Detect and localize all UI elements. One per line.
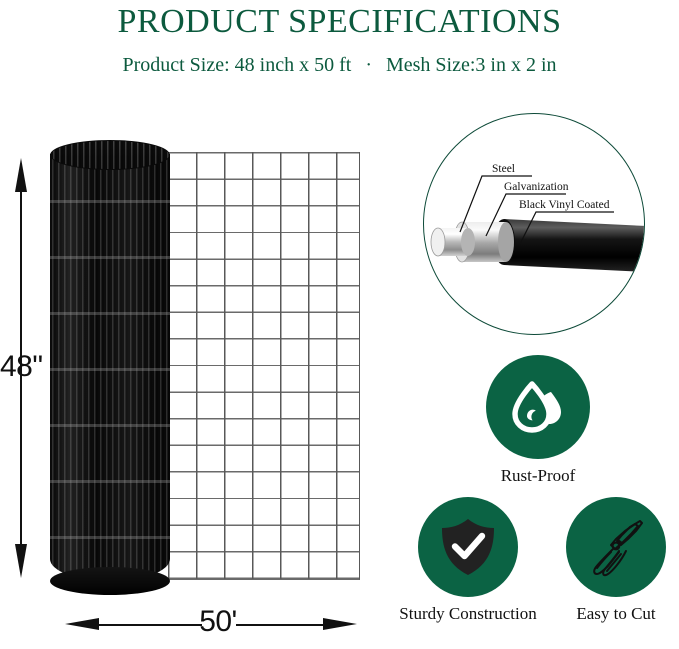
feature-badge-circle: [418, 497, 518, 597]
vinyl-layer: [493, 219, 645, 272]
product-illustration: 48" 50': [0, 0, 400, 649]
mesh-size-text: Mesh Size:3 in x 2 in: [386, 54, 557, 76]
feature-caption: Rust-Proof: [478, 466, 598, 486]
roll-body: [50, 154, 170, 581]
feature-caption: Easy to Cut: [553, 604, 679, 624]
steel-core-layer: [431, 228, 475, 256]
shield-check-icon: [438, 516, 498, 578]
callout-label-black-vinyl-coated: Black Vinyl Coated: [519, 199, 610, 211]
feature-rust-proof: Rust-Proof: [478, 355, 598, 486]
wire-construction-diagram: Steel Galvanization Black Vinyl Coated: [423, 113, 645, 335]
feature-caption: Sturdy Construction: [388, 604, 548, 624]
water-drop-icon: [507, 376, 569, 438]
feature-sturdy-construction: Sturdy Construction: [388, 497, 548, 624]
height-dimension-label: 48": [0, 350, 64, 384]
wire-fence-roll: [50, 140, 170, 595]
arrow-shaft-left: [85, 624, 202, 626]
callout-label-steel: Steel: [492, 163, 515, 175]
arrow-shaft-right: [236, 624, 337, 626]
arrow-head-left-icon: [65, 618, 99, 630]
arrow-head-up-icon: [15, 158, 27, 192]
pliers-icon: [583, 514, 649, 580]
wire-mesh-grid: [168, 152, 360, 580]
roll-top-edge: [50, 140, 170, 170]
roll-bottom-edge: [50, 567, 170, 595]
arrow-head-right-icon: [323, 618, 357, 630]
feature-badge-circle: [486, 355, 590, 459]
callout-label-galvanization: Galvanization: [504, 181, 569, 193]
arrow-head-down-icon: [15, 544, 27, 578]
feature-badge-circle: [566, 497, 666, 597]
width-dimension-label: 50': [188, 605, 248, 639]
feature-easy-to-cut: Easy to Cut: [553, 497, 679, 624]
